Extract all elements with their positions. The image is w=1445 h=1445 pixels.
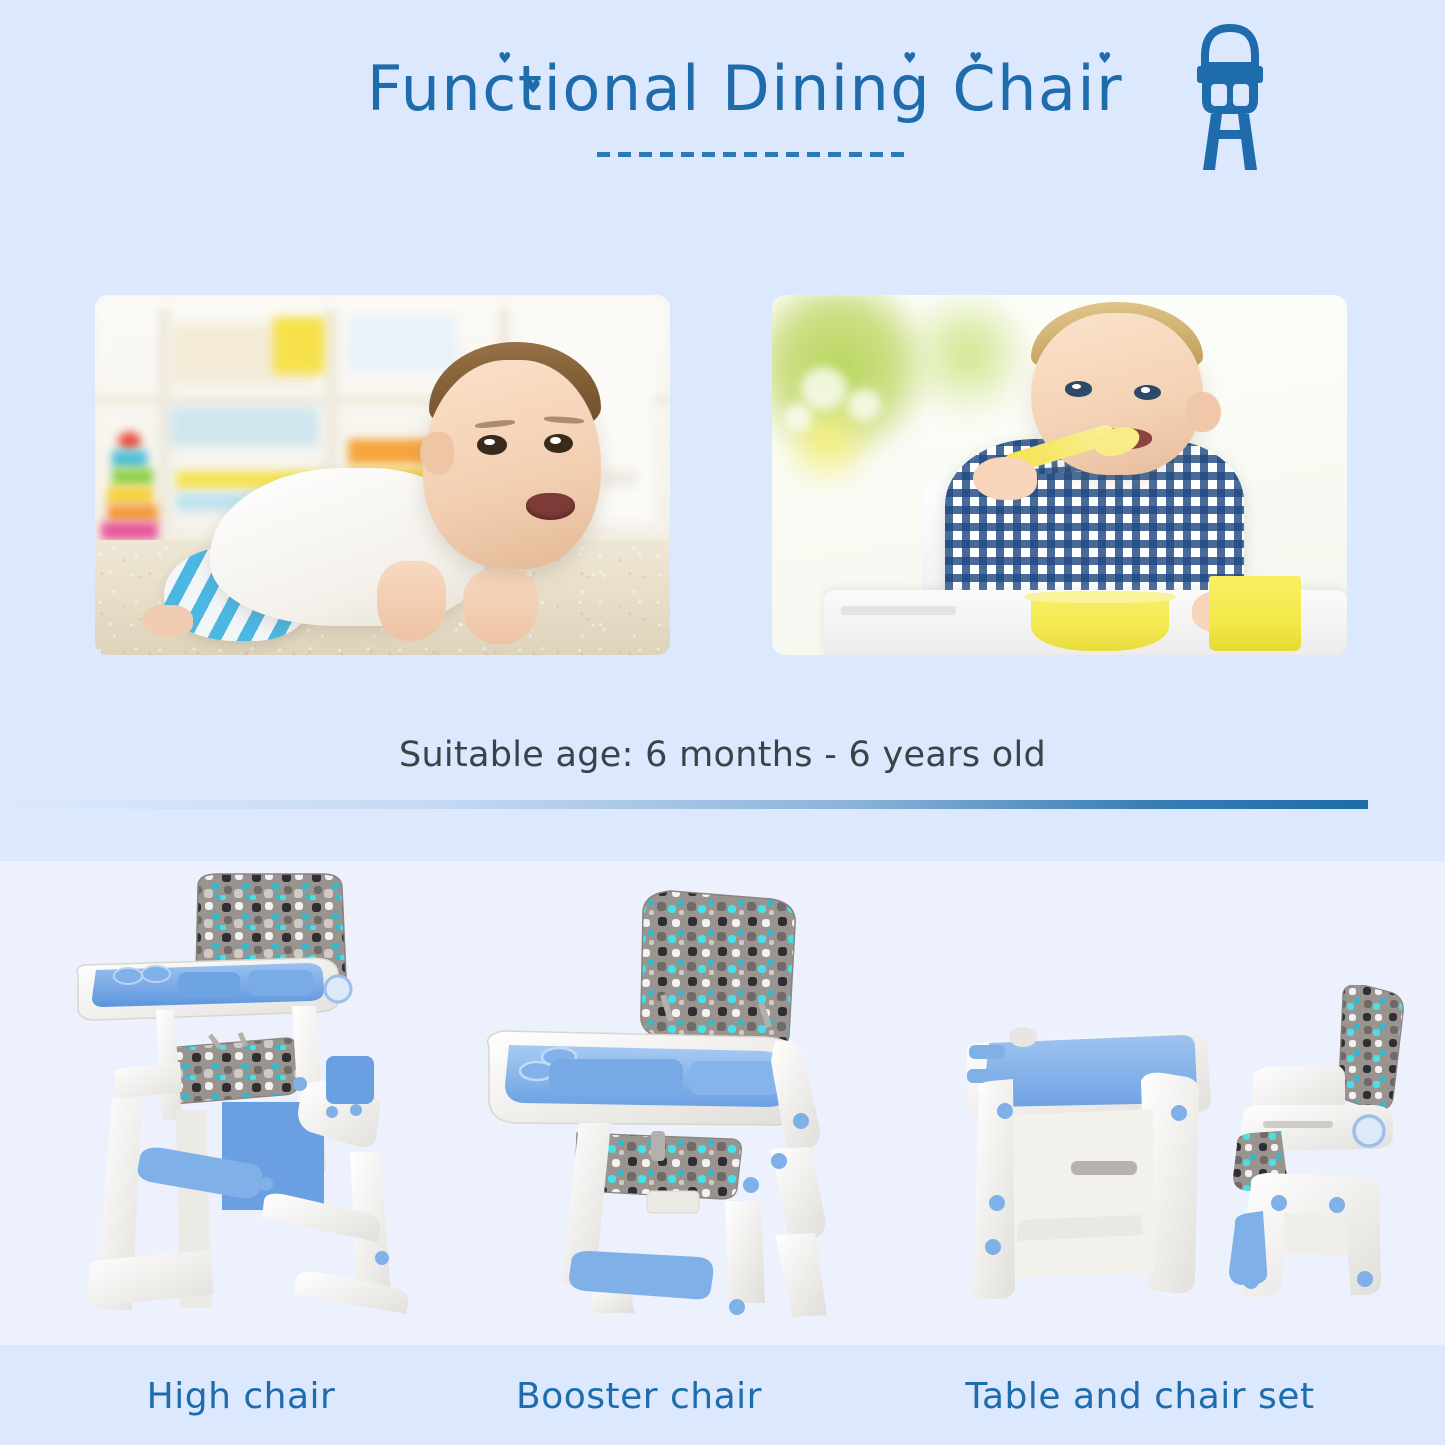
dashed-divider — [597, 152, 907, 157]
booster-chair-illustration — [475, 885, 865, 1340]
caption-table-and-chair-set: Table and chair set — [860, 1370, 1420, 1422]
caption-high-chair: High chair — [42, 1370, 440, 1422]
page-title: Functional Dining Chair — [330, 46, 1160, 131]
toddler-eating-photo — [772, 295, 1347, 655]
section-divider — [0, 800, 1368, 809]
suitable-age-note: Suitable age: 6 months - 6 years old — [0, 735, 1445, 775]
page-title-text: Functional Dining Chair — [367, 52, 1123, 125]
caption-booster-chair: Booster chair — [440, 1370, 838, 1422]
top-section: Functional Dining Chair — [0, 0, 1445, 861]
baby-crawling-photo — [95, 295, 670, 655]
table-and-chair-set-illustration — [945, 985, 1405, 1315]
high-chair-icon — [1175, 18, 1285, 178]
header: Functional Dining Chair — [0, 0, 1445, 200]
high-chair-illustration — [70, 870, 470, 1340]
